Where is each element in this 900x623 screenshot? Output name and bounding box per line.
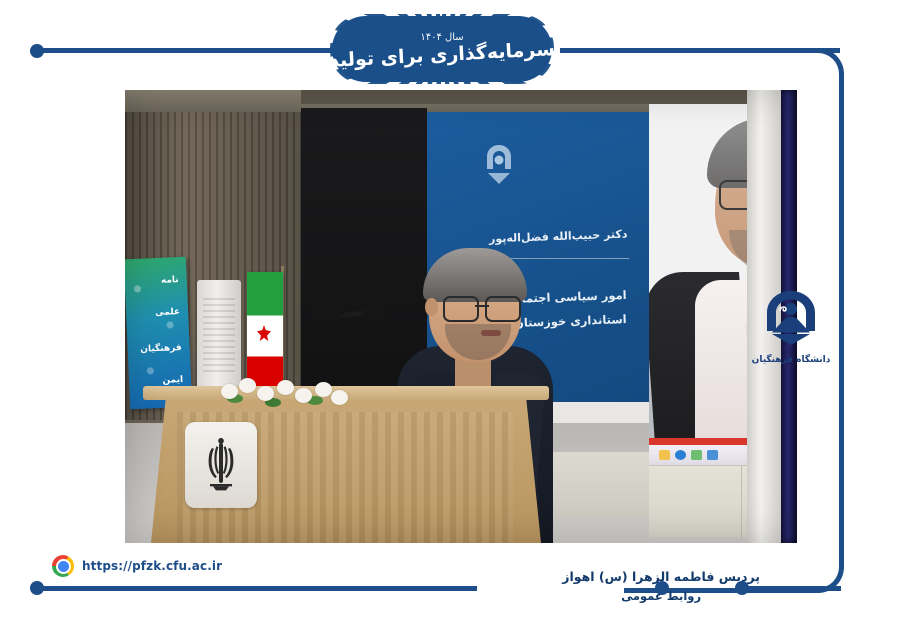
speaker-mouth [481, 330, 501, 336]
speaker-eyeglasses-icon [443, 296, 521, 318]
frame-bottom-line-left [37, 586, 477, 591]
footer-department-name: روابط عمومی [562, 589, 760, 603]
event-photograph: دکتر حبیب‌الله فضل‌اله‌پور امور سیاسی اج… [125, 90, 797, 543]
university-logo-caption: دانشگاه فرهنگیان [752, 355, 831, 365]
footer-organization-name: پردیس فاطمه الزهرا (س) اهواز [562, 569, 760, 584]
badge-slogan-label: سرمایه‌گذاری برای تولید [329, 38, 556, 72]
frame-right-vertical [839, 190, 844, 450]
browser-icon [675, 450, 686, 460]
farhangian-university-logo-icon [760, 287, 822, 353]
banner-line-3: فرهنگیان [140, 343, 182, 355]
folder-icon [659, 450, 670, 460]
banner-line-1: نامه [161, 275, 179, 286]
upper-wall-strip [301, 90, 797, 104]
banner-line-4: ایمن [162, 375, 183, 386]
website-url-row[interactable]: https://pfzk.cfu.ac.ir [52, 555, 222, 577]
podium-emblem-plate [185, 422, 257, 508]
header-slogan-badge: سال ۱۴۰۴ سرمایه‌گذاری برای تولید [334, 18, 550, 80]
flag-emblem [257, 325, 271, 341]
organization-logo-icon [477, 142, 521, 188]
slide-speaker-name: دکتر حبیب‌الله فضل‌اله‌پور [488, 228, 627, 246]
university-logo: دانشگاه فرهنگیان [746, 278, 836, 374]
image-icon [707, 450, 718, 460]
flower-arrangement [221, 376, 349, 410]
slide-line-3: استانداری خوزستان [514, 312, 627, 330]
website-url-text[interactable]: https://pfzk.cfu.ac.ir [82, 559, 222, 573]
media-icon [691, 450, 702, 460]
speaker-ear [425, 298, 438, 316]
banner-line-2: علمی [155, 307, 180, 318]
iran-national-emblem-icon [201, 434, 241, 494]
badge-year-label: سال ۱۴۰۴ [420, 32, 463, 43]
footer-organization-block: پردیس فاطمه الزهرا (س) اهواز روابط عمومی [562, 569, 760, 603]
frame-dot-top-left [30, 44, 44, 58]
frame-dot-bottom-left [30, 581, 44, 595]
chrome-icon [52, 555, 74, 577]
